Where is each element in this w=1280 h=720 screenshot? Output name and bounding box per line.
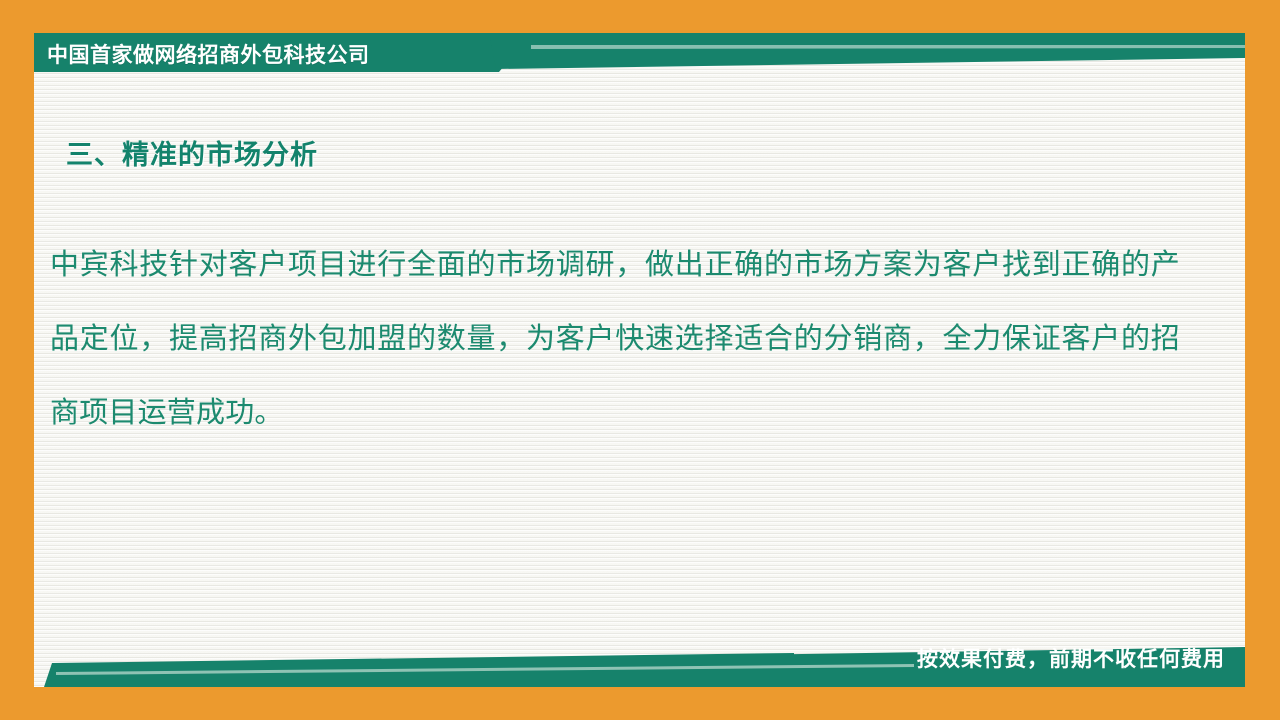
slide-canvas: 中国首家做网络招商外包科技公司 三、精准的市场分析 中宾科技针对客户项目进行全面… [0, 0, 1280, 720]
body-paragraph: 中宾科技针对客户项目进行全面的市场调研，做出正确的市场方案为客户找到正确的产品定… [50, 228, 1180, 450]
section-heading: 三、精准的市场分析 [66, 133, 318, 172]
footer-tagline: 按效果付费，前期不收任何费用 [917, 643, 1225, 673]
header-title: 中国首家做网络招商外包科技公司 [47, 36, 370, 72]
